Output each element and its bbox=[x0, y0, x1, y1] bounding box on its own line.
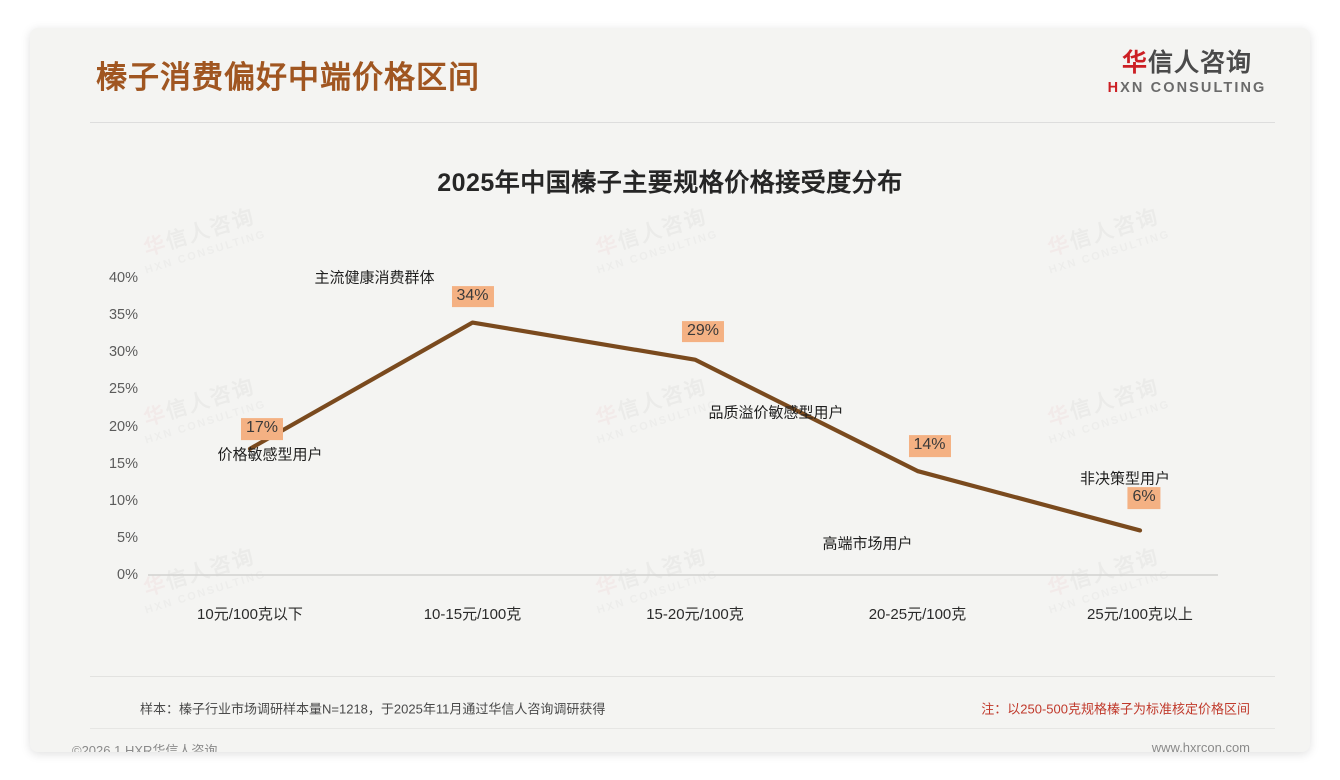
y-axis-tick-label: 20% bbox=[82, 419, 138, 435]
y-axis-tick-label: 0% bbox=[82, 567, 138, 583]
data-point-value-label: 17% bbox=[241, 418, 283, 440]
slide-card: 华信人咨询 HXN CONSULTING 华信人咨询 HXN CONSULTIN… bbox=[30, 28, 1310, 752]
data-point-annotation: 高端市场用户 bbox=[822, 533, 912, 554]
chart-canvas bbox=[30, 28, 1310, 752]
data-point-annotation: 非决策型用户 bbox=[1080, 468, 1170, 489]
line-chart: 40%35%30%25%20%15%10%5%0%10元/100克以下10-15… bbox=[30, 28, 1310, 752]
data-point-value-label: 34% bbox=[451, 286, 493, 308]
y-axis-tick-label: 15% bbox=[82, 456, 138, 472]
y-axis-tick-label: 10% bbox=[82, 493, 138, 509]
website-link[interactable]: www.hxrcon.com bbox=[1152, 740, 1250, 752]
copyright-text: ©2026.1 HXR华信人咨询 bbox=[72, 740, 217, 752]
data-point-annotation: 主流健康消费群体 bbox=[314, 266, 434, 287]
footer-bar: ©2026.1 HXR华信人咨询 www.hxrcon.com bbox=[30, 728, 1310, 752]
spec-note: 注：以250-500克规格榛子为标准核定价格区间 bbox=[981, 699, 1250, 718]
x-axis-tick-label: 25元/100克以上 bbox=[1087, 603, 1193, 624]
x-axis-tick-label: 20-25元/100克 bbox=[869, 603, 967, 624]
footer-bar-divider bbox=[90, 728, 1275, 729]
data-point-value-label: 29% bbox=[682, 321, 724, 343]
x-axis-tick-label: 15-20元/100克 bbox=[646, 603, 744, 624]
footer-divider bbox=[90, 676, 1275, 677]
data-point-annotation: 价格敏感型用户 bbox=[217, 443, 322, 464]
x-axis-tick-label: 10-15元/100克 bbox=[424, 603, 522, 624]
data-point-value-label: 14% bbox=[908, 435, 950, 457]
y-axis-tick-label: 30% bbox=[82, 344, 138, 360]
x-axis-tick-label: 10元/100克以下 bbox=[197, 603, 303, 624]
y-axis-tick-label: 35% bbox=[82, 307, 138, 323]
y-axis-tick-label: 5% bbox=[82, 530, 138, 546]
data-point-annotation: 品质溢价敏感型用户 bbox=[708, 401, 843, 422]
y-axis-tick-label: 25% bbox=[82, 381, 138, 397]
data-point-value-label: 6% bbox=[1127, 488, 1160, 510]
sample-note: 样本：榛子行业市场调研样本量N=1218，于2025年11月通过华信人咨询调研获… bbox=[140, 699, 605, 718]
data-series-line bbox=[250, 323, 1140, 531]
y-axis-tick-label: 40% bbox=[82, 270, 138, 286]
